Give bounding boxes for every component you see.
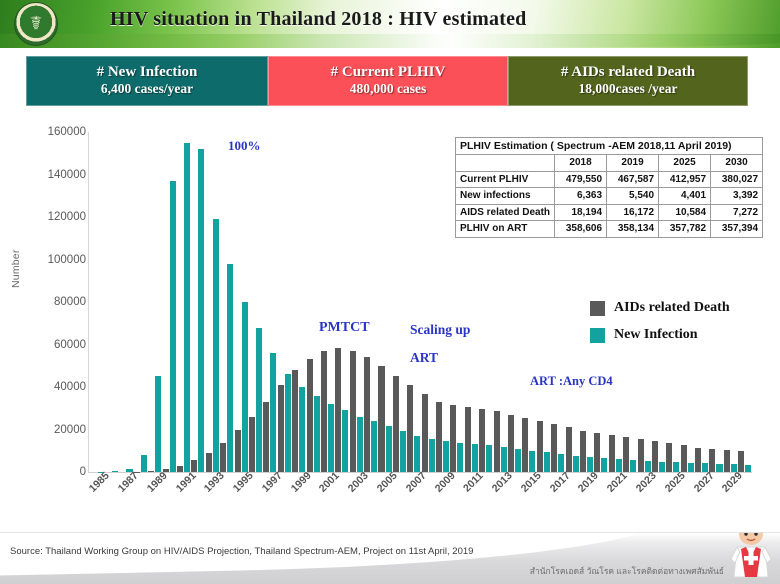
bar-aids-related-death xyxy=(235,430,241,473)
x-tick-slot xyxy=(220,474,234,530)
table-column-header: 2025 xyxy=(659,155,711,172)
bar-new-infection xyxy=(198,149,204,472)
bar-aids-related-death xyxy=(378,366,384,472)
x-tick-slot: 2003 xyxy=(349,474,363,530)
bar-new-infection xyxy=(227,264,233,472)
bar-aids-related-death xyxy=(652,441,658,472)
bar-aids-related-death xyxy=(407,385,413,472)
bar-aids-related-death xyxy=(364,357,370,472)
kpi-new-infection: # New Infection 6,400 cases/year xyxy=(26,56,268,106)
bar-new-infection xyxy=(342,410,348,472)
annotation-scaling-up: Scaling up xyxy=(410,322,470,338)
bar-aids-related-death xyxy=(278,385,284,472)
bar-group-year xyxy=(320,132,334,472)
chart-legend: AIDs related Death New Infection xyxy=(590,300,730,354)
bar-new-infection xyxy=(472,444,478,472)
plot-area: Number 020000400006000080000100000120000… xyxy=(14,112,766,530)
bar-aids-related-death xyxy=(479,409,485,472)
kpi-new-infection-value: 6,400 cases/year xyxy=(101,81,193,98)
x-tick-slot: 2015 xyxy=(522,474,536,530)
bar-new-infection xyxy=(386,426,392,472)
table-cell: 412,957 xyxy=(659,171,711,188)
x-tick-slot: 2007 xyxy=(407,474,421,530)
bar-aids-related-death xyxy=(508,415,514,472)
y-tick-label: 80000 xyxy=(22,296,86,308)
doctor-mascot-icon xyxy=(728,532,774,581)
bar-new-infection xyxy=(371,421,377,472)
bar-group-year xyxy=(435,132,449,472)
header-banner: ☤ HIV situation in Thailand 2018 : HIV e… xyxy=(0,0,780,48)
footer-bar: Source: Thailand Working Group on HIV/AI… xyxy=(0,532,780,584)
table-cell: 357,782 xyxy=(659,221,711,238)
x-tick-slot xyxy=(536,474,550,530)
bar-aids-related-death xyxy=(220,443,226,472)
bar-new-infection xyxy=(501,447,507,473)
bar-aids-related-death xyxy=(594,433,600,472)
x-axis-labels: 1985198719891991199319951997199920012003… xyxy=(90,474,752,530)
x-tick-slot xyxy=(450,474,464,530)
legend-label-new-infection: New Infection xyxy=(614,327,698,343)
bar-aids-related-death xyxy=(724,450,730,472)
table-cell: 380,027 xyxy=(711,171,763,188)
bar-aids-related-death xyxy=(580,431,586,472)
bar-new-infection xyxy=(184,143,190,472)
table-cell: 358,606 xyxy=(555,221,607,238)
bar-new-infection xyxy=(601,458,607,472)
table-cell: 16,172 xyxy=(607,204,659,221)
x-tick-slot xyxy=(651,474,665,530)
x-tick-slot xyxy=(363,474,377,530)
x-tick-slot xyxy=(191,474,205,530)
bar-new-infection xyxy=(155,376,161,472)
bar-new-infection xyxy=(256,328,262,473)
table-caption: PLHIV Estimation ( Spectrum -AEM 2018,11… xyxy=(456,138,763,155)
table-row: New infections6,3635,5404,4013,392 xyxy=(456,188,763,205)
x-tick-slot: 1991 xyxy=(176,474,190,530)
x-tick-slot xyxy=(277,474,291,530)
bar-group-year xyxy=(220,132,234,472)
x-tick-slot: 1993 xyxy=(205,474,219,530)
bar-new-infection xyxy=(328,404,334,472)
bar-new-infection xyxy=(630,460,636,472)
bar-aids-related-death xyxy=(681,445,687,472)
bar-aids-related-death xyxy=(537,421,543,472)
bar-new-infection xyxy=(285,374,291,472)
bar-group-year xyxy=(263,132,277,472)
bar-new-infection xyxy=(112,471,118,472)
bar-aids-related-death xyxy=(450,405,456,472)
y-tick-label: 20000 xyxy=(22,424,86,436)
table-cell: 18,194 xyxy=(555,204,607,221)
hiv-trend-chart: Number 020000400006000080000100000120000… xyxy=(14,112,766,530)
bar-group-year xyxy=(205,132,219,472)
bar-new-infection xyxy=(270,353,276,472)
kpi-aids-related-death-value: 18,000cases /year xyxy=(579,81,678,98)
bar-aids-related-death xyxy=(393,376,399,472)
y-tick-label: 100000 xyxy=(22,254,86,266)
table-body: PLHIV Estimation ( Spectrum -AEM 2018,11… xyxy=(456,138,763,238)
annotation-hundred-percent: 100% xyxy=(228,138,261,154)
bar-group-year xyxy=(248,132,262,472)
x-tick-slot: 2021 xyxy=(608,474,622,530)
bar-group-year xyxy=(378,132,392,472)
x-tick-slot xyxy=(335,474,349,530)
y-axis-ticks: 0200004000060000800001000001200001400001… xyxy=(14,112,86,530)
bar-aids-related-death xyxy=(566,427,572,472)
x-tick-slot: 1999 xyxy=(291,474,305,530)
bar-group-year xyxy=(407,132,421,472)
bar-aids-related-death xyxy=(249,417,255,472)
table-cell: 357,394 xyxy=(711,221,763,238)
bar-group-year xyxy=(277,132,291,472)
bar-aids-related-death xyxy=(738,451,744,472)
kpi-banner-row: # New Infection 6,400 cases/year # Curre… xyxy=(26,56,748,106)
y-tick-label: 120000 xyxy=(22,211,86,223)
bar-new-infection xyxy=(357,417,363,472)
bar-new-infection xyxy=(299,387,305,472)
bar-aids-related-death xyxy=(522,418,528,472)
x-tick-slot xyxy=(133,474,147,530)
bar-aids-related-death xyxy=(465,407,471,472)
bar-new-infection xyxy=(745,465,751,472)
table-column-header: 2019 xyxy=(607,155,659,172)
table-row: PLHIV on ART358,606358,134357,782357,394 xyxy=(456,221,763,238)
table-cell: 467,587 xyxy=(607,171,659,188)
table-cell: 3,392 xyxy=(711,188,763,205)
bar-aids-related-death xyxy=(436,402,442,472)
bar-new-infection xyxy=(457,443,463,472)
x-tick-slot xyxy=(709,474,723,530)
bar-group-year xyxy=(421,132,435,472)
bar-new-infection xyxy=(400,431,406,472)
x-tick-slot xyxy=(248,474,262,530)
table-row-header: Current PLHIV xyxy=(456,171,555,188)
kpi-current-plhiv-value: 480,000 cases xyxy=(350,81,427,98)
table-caption-row: PLHIV Estimation ( Spectrum -AEM 2018,11… xyxy=(456,138,763,155)
bar-aids-related-death xyxy=(148,471,154,472)
bar-aids-related-death xyxy=(177,466,183,472)
bar-group-year xyxy=(191,132,205,472)
bar-aids-related-death xyxy=(638,439,644,472)
table-cell: 7,272 xyxy=(711,204,763,221)
table-row-header: AIDS related Death xyxy=(456,204,555,221)
bar-aids-related-death xyxy=(494,411,500,472)
legend-label-aids-death: AIDs related Death xyxy=(614,300,730,316)
bar-new-infection xyxy=(314,396,320,473)
bar-new-infection xyxy=(659,462,665,472)
bar-new-infection xyxy=(443,441,449,472)
bar-group-year xyxy=(104,132,118,472)
bar-new-infection xyxy=(213,219,219,472)
table-cell: 10,584 xyxy=(659,204,711,221)
plhiv-estimation-table: PLHIV Estimation ( Spectrum -AEM 2018,11… xyxy=(455,137,763,238)
legend-swatch-aids-death xyxy=(590,301,605,316)
x-tick-slot xyxy=(622,474,636,530)
bar-group-year xyxy=(363,132,377,472)
table-row-header: New infections xyxy=(456,188,555,205)
x-tick-slot xyxy=(479,474,493,530)
bar-aids-related-death xyxy=(206,453,212,472)
y-tick-label: 0 xyxy=(22,466,86,478)
x-tick-slot: 2009 xyxy=(435,474,449,530)
x-tick-slot: 2029 xyxy=(723,474,737,530)
y-tick-label: 60000 xyxy=(22,339,86,351)
bar-aids-related-death xyxy=(307,359,313,472)
bar-aids-related-death xyxy=(609,435,615,472)
x-tick-slot: 2011 xyxy=(464,474,478,530)
x-tick-slot: 2025 xyxy=(666,474,680,530)
ministry-of-public-health-seal-icon: ☤ xyxy=(14,2,58,46)
kpi-new-infection-title: # New Infection xyxy=(97,64,198,81)
bar-aids-related-death xyxy=(292,370,298,472)
bar-group-year xyxy=(148,132,162,472)
bar-group-year xyxy=(133,132,147,472)
x-tick-slot: 2017 xyxy=(551,474,565,530)
x-tick-slot xyxy=(104,474,118,530)
bar-aids-related-death xyxy=(695,448,701,472)
x-tick-slot: 1987 xyxy=(119,474,133,530)
x-tick-slot: 2023 xyxy=(637,474,651,530)
source-citation: Source: Thailand Working Group on HIV/AI… xyxy=(10,546,473,557)
table-row: Current PLHIV479,550467,587412,957380,02… xyxy=(456,171,763,188)
kpi-aids-related-death-title: # AIDs related Death xyxy=(561,64,695,81)
x-tick-slot: 2005 xyxy=(378,474,392,530)
bar-new-infection xyxy=(544,452,550,472)
thai-department-credit: สำนักโรคเอดส์ วัณโรค และโรคติดต่อทางเพศส… xyxy=(530,564,724,578)
bar-aids-related-death xyxy=(623,437,629,472)
table-cell: 6,363 xyxy=(555,188,607,205)
bar-aids-related-death xyxy=(666,443,672,472)
x-tick-slot xyxy=(594,474,608,530)
x-tick-slot: 1985 xyxy=(90,474,104,530)
kpi-aids-related-death: # AIDs related Death 18,000cases /year xyxy=(508,56,748,106)
legend-swatch-new-infection xyxy=(590,328,605,343)
x-tick-slot xyxy=(306,474,320,530)
bar-new-infection xyxy=(573,456,579,472)
bar-aids-related-death xyxy=(709,449,715,472)
annotation-art: ART xyxy=(410,350,438,366)
legend-item-new-infection: New Infection xyxy=(590,327,730,343)
kpi-current-plhiv: # Current PLHIV 480,000 cases xyxy=(268,56,508,106)
bar-group-year xyxy=(335,132,349,472)
bar-group-year xyxy=(90,132,104,472)
legend-item-aids-death: AIDs related Death xyxy=(590,300,730,316)
bar-group-year xyxy=(119,132,133,472)
bar-aids-related-death xyxy=(335,348,341,472)
bar-new-infection xyxy=(486,445,492,472)
bar-group-year xyxy=(392,132,406,472)
annotation-pmtct: PMTCT xyxy=(319,320,370,336)
table-row-header: PLHIV on ART xyxy=(456,221,555,238)
bar-group-year xyxy=(234,132,248,472)
kpi-current-plhiv-title: # Current PLHIV xyxy=(331,64,446,81)
bar-new-infection xyxy=(414,436,420,472)
x-tick-slot xyxy=(507,474,521,530)
y-tick-label: 160000 xyxy=(22,126,86,138)
x-tick-slot: 1989 xyxy=(148,474,162,530)
x-tick-slot: 2001 xyxy=(320,474,334,530)
x-tick-slot xyxy=(162,474,176,530)
y-tick-label: 40000 xyxy=(22,381,86,393)
y-axis-line xyxy=(88,132,89,472)
bar-new-infection xyxy=(429,439,435,472)
bar-group-year xyxy=(291,132,305,472)
caduceus-glyph: ☤ xyxy=(30,15,43,34)
table-column-header: 2018 xyxy=(555,155,607,172)
bar-aids-related-death xyxy=(350,351,356,472)
x-tick-slot xyxy=(565,474,579,530)
x-tick-slot xyxy=(421,474,435,530)
table-cell: 479,550 xyxy=(555,171,607,188)
bar-new-infection xyxy=(141,455,147,472)
bar-new-infection xyxy=(515,449,521,472)
bar-aids-related-death xyxy=(191,460,197,472)
page-title: HIV situation in Thailand 2018 : HIV est… xyxy=(110,8,527,31)
bar-group-year xyxy=(306,132,320,472)
x-tick-slot: 2019 xyxy=(579,474,593,530)
x-tick-slot xyxy=(392,474,406,530)
bar-new-infection xyxy=(688,463,694,472)
table-corner-cell xyxy=(456,155,555,172)
bar-aids-related-death xyxy=(263,402,269,472)
table-cell: 5,540 xyxy=(607,188,659,205)
x-tick-slot: 2013 xyxy=(493,474,507,530)
bar-new-infection xyxy=(170,181,176,472)
bar-group-year xyxy=(176,132,190,472)
x-tick-slot xyxy=(738,474,752,530)
annotation-art-any-cd4: ART :Any CD4 xyxy=(530,374,613,389)
table-column-header: 2030 xyxy=(711,155,763,172)
bar-aids-related-death xyxy=(422,394,428,472)
bar-aids-related-death xyxy=(321,351,327,472)
x-tick-slot: 1995 xyxy=(234,474,248,530)
table-cell: 358,134 xyxy=(607,221,659,238)
x-tick-slot: 2027 xyxy=(694,474,708,530)
x-tick-slot: 1997 xyxy=(263,474,277,530)
y-tick-label: 140000 xyxy=(22,169,86,181)
bar-aids-related-death xyxy=(551,424,557,472)
bar-new-infection xyxy=(716,464,722,472)
table-cell: 4,401 xyxy=(659,188,711,205)
table-header-row: 2018201920252030 xyxy=(456,155,763,172)
bar-group-year xyxy=(162,132,176,472)
x-tick-slot xyxy=(680,474,694,530)
bar-new-infection xyxy=(242,302,248,472)
table-row: AIDS related Death18,19416,17210,5847,27… xyxy=(456,204,763,221)
bar-group-year xyxy=(349,132,363,472)
